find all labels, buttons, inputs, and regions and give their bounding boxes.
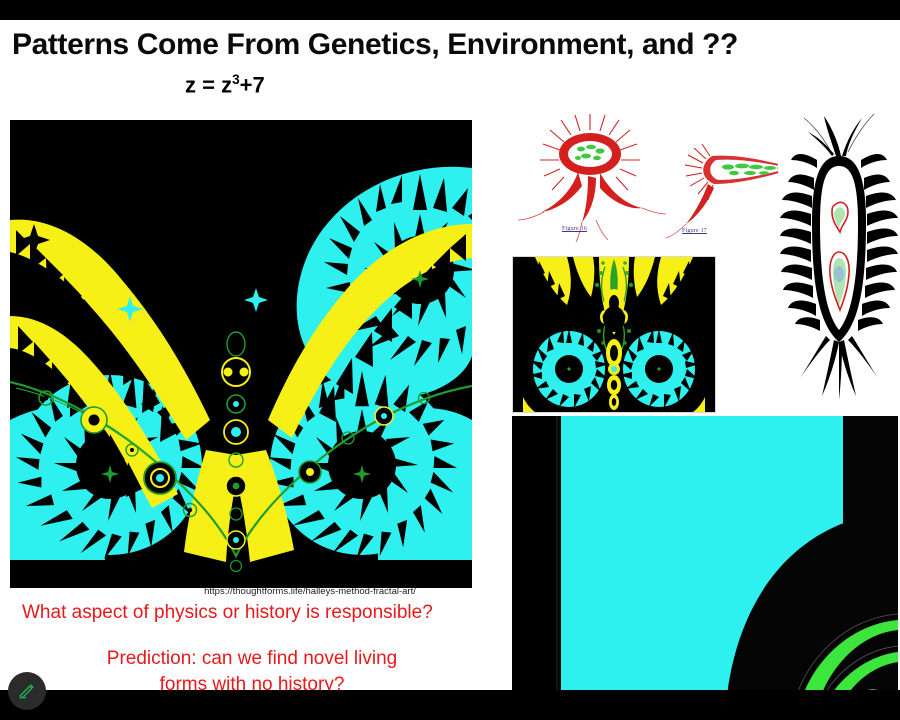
formula-base: z = z <box>185 72 232 97</box>
annotation-prediction-line1: Prediction: can we find novel living <box>107 648 397 669</box>
formula-tail: +7 <box>240 72 265 97</box>
viewer-top-bar <box>0 0 900 20</box>
page-title: Patterns Come From Genetics, Environment… <box>12 28 892 62</box>
pencil-icon <box>17 681 37 701</box>
annotation-prediction: Prediction: can we find novel living for… <box>52 646 452 690</box>
slide-viewer: Patterns Come From Genetics, Environment… <box>0 0 900 720</box>
big-halley-fractal-image[interactable] <box>512 416 898 690</box>
slide-canvas: Patterns Come From Genetics, Environment… <box>0 20 900 690</box>
formula-label: z = z3+7 <box>185 72 265 98</box>
figure-caption-17: Figure 17 <box>682 228 707 234</box>
viewer-bottom-bar <box>0 690 900 720</box>
formula-exponent: 3 <box>232 72 240 87</box>
source-url-caption: https://thoughtforms.life/halleys-method… <box>140 586 480 597</box>
annotation-prediction-line2: forms with no history? <box>160 674 345 690</box>
figure-caption-16: Figure 16 <box>562 226 587 232</box>
main-halley-fractal-image[interactable] <box>10 120 472 588</box>
ciliate-fractal-image[interactable] <box>778 112 900 410</box>
edit-button[interactable] <box>8 672 46 710</box>
annotation-question: What aspect of physics or history is res… <box>22 602 433 624</box>
mid-halley-fractal-image[interactable] <box>512 256 716 413</box>
